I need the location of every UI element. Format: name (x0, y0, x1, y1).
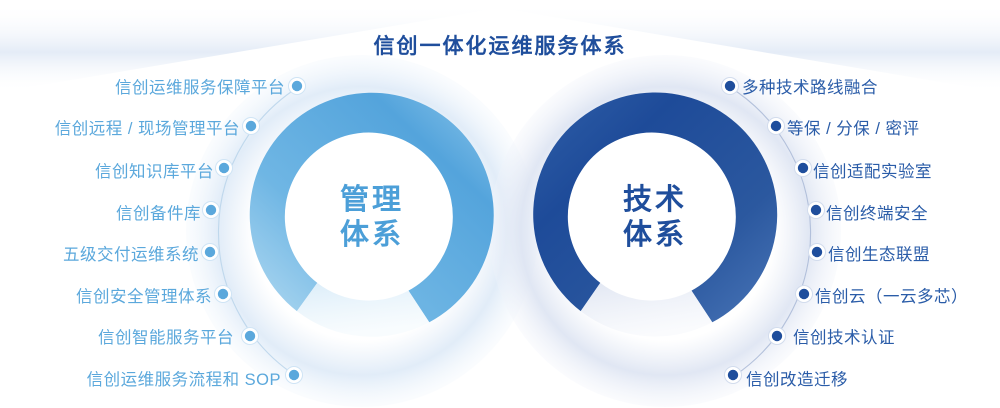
left-ring-label: 管理 体系 (302, 183, 442, 254)
left-connector-dot[interactable] (203, 202, 220, 219)
right-connector-dot[interactable] (809, 244, 826, 261)
left-label-item[interactable]: 信创备件库 (116, 200, 201, 224)
right-ring-label: 技术 体系 (585, 183, 725, 254)
right-label-item[interactable]: 等保 / 分保 / 密评 (787, 115, 920, 139)
right-label-item[interactable]: 信创技术认证 (793, 324, 895, 348)
left-label-item[interactable]: 信创知识库平台 (95, 158, 214, 182)
right-connector-dot[interactable] (808, 202, 825, 219)
left-ring-label-line2: 体系 (302, 218, 442, 253)
left-label-item[interactable]: 信创智能服务平台 (98, 324, 234, 348)
right-connector-dot[interactable] (769, 328, 786, 345)
left-label-item[interactable]: 信创运维服务保障平台 (115, 74, 285, 98)
right-label-item[interactable]: 信创改造迁移 (746, 366, 848, 390)
left-label-item[interactable]: 信创远程 / 现场管理平台 (55, 115, 240, 139)
right-ring-label-line2: 体系 (585, 218, 725, 253)
right-connector-dot[interactable] (722, 78, 739, 95)
right-connector-dot[interactable] (796, 286, 813, 303)
right-connector-dot[interactable] (795, 160, 812, 177)
left-label-item[interactable]: 信创运维服务流程和 SOP (87, 366, 281, 390)
left-connector-dot[interactable] (216, 160, 233, 177)
left-label-item[interactable]: 信创安全管理体系 (76, 283, 212, 307)
right-connector-dot[interactable] (768, 118, 785, 135)
left-connector-dot[interactable] (286, 367, 303, 384)
left-label-item[interactable]: 五级交付运维系统 (63, 241, 199, 265)
left-connector-dot[interactable] (215, 286, 232, 303)
right-label-item[interactable]: 信创云（一云多芯） (815, 283, 968, 307)
left-connector-dot[interactable] (289, 78, 306, 95)
right-label-item[interactable]: 多种技术路线融合 (742, 74, 878, 98)
left-connector-dot[interactable] (242, 328, 259, 345)
left-connector-dot[interactable] (243, 118, 260, 135)
diagram-canvas: 信创一体化运维服务体系 管理 体系 技术 体系 信创运维服务保障平台信创远程 /… (0, 0, 1000, 408)
page-title: 信创一体化运维服务体系 (0, 30, 1000, 60)
right-ring-label-line1: 技术 (585, 183, 725, 218)
left-ring-label-line1: 管理 (302, 183, 442, 218)
right-label-item[interactable]: 信创终端安全 (826, 200, 928, 224)
right-label-item[interactable]: 信创适配实验室 (813, 158, 932, 182)
right-connector-dot[interactable] (725, 367, 742, 384)
right-label-item[interactable]: 信创生态联盟 (828, 241, 930, 265)
left-connector-dot[interactable] (202, 244, 219, 261)
